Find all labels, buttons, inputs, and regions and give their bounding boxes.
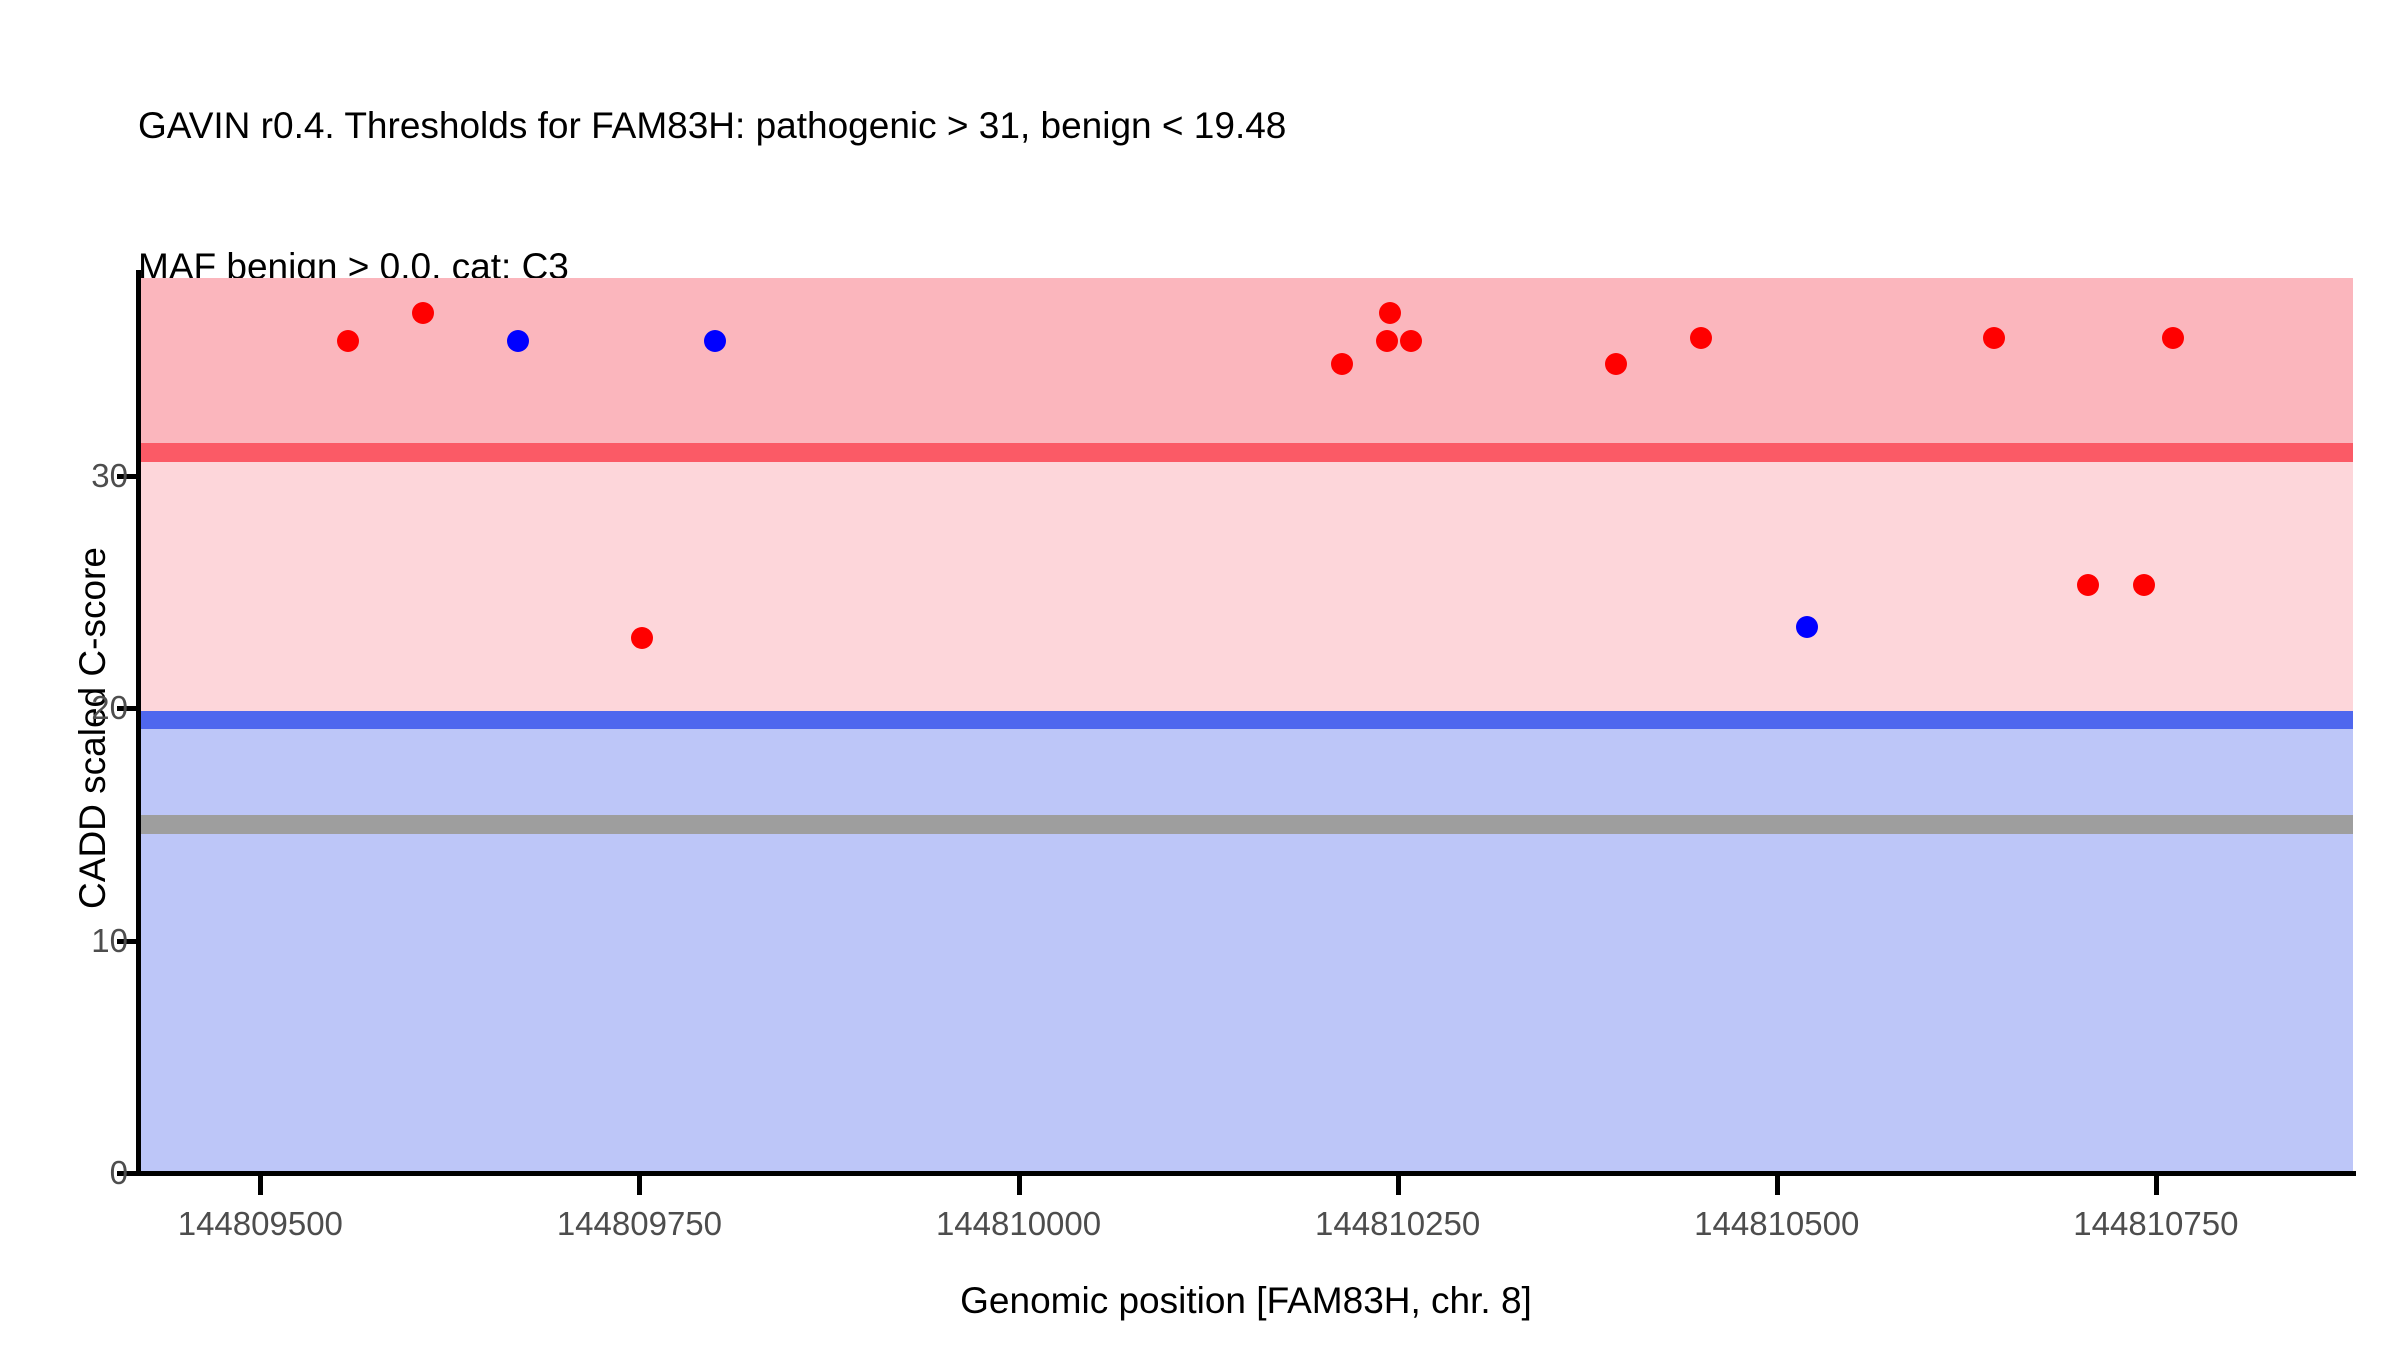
clinvar-pathogenic-point[interactable] <box>337 330 359 352</box>
clinvar-pathogenic-point[interactable] <box>1379 302 1401 324</box>
gnomad-variant-point[interactable] <box>704 330 726 352</box>
gnomad-variant-point[interactable] <box>1796 616 1818 638</box>
y-tick-label: 30 <box>0 457 128 495</box>
clinvar-pathogenic-point[interactable] <box>1376 330 1398 352</box>
clinvar-pathogenic-point[interactable] <box>1331 353 1353 375</box>
x-axis-title: Genomic position [FAM83H, chr. 8] <box>136 1280 2356 1322</box>
pathogenic-threshold-line <box>139 443 2353 462</box>
clinvar-pathogenic-point[interactable] <box>1983 327 2005 349</box>
x-tick-mark <box>637 1176 642 1195</box>
clinvar-pathogenic-point[interactable] <box>1400 330 1422 352</box>
x-tick-mark <box>1017 1176 1022 1195</box>
y-tick-label: 10 <box>0 922 128 960</box>
x-tick-mark <box>2154 1176 2159 1195</box>
x-tick-label: 144810250 <box>1198 1205 1598 1243</box>
pathogenic-region <box>139 278 2353 452</box>
benign-threshold-line <box>139 711 2353 729</box>
x-axis-line <box>136 1171 2356 1176</box>
clinvar-pathogenic-point[interactable] <box>2077 574 2099 596</box>
clinvar-pathogenic-point[interactable] <box>2133 574 2155 596</box>
x-tick-label: 144809750 <box>439 1205 839 1243</box>
chart-figure: GAVIN r0.4. Thresholds for FAM83H: patho… <box>0 0 2400 1350</box>
clinvar-pathogenic-point[interactable] <box>2162 327 2184 349</box>
benign-region <box>139 729 2353 1173</box>
clinvar-pathogenic-point[interactable] <box>412 302 434 324</box>
x-tick-mark <box>1775 1176 1780 1195</box>
clinvar-pathogenic-point[interactable] <box>1605 353 1627 375</box>
x-tick-mark <box>258 1176 263 1195</box>
genome-wide-fallback-line <box>139 815 2353 834</box>
x-tick-label: 144809500 <box>60 1205 460 1243</box>
x-tick-mark <box>1396 1176 1401 1195</box>
y-tick-label: 20 <box>0 689 128 727</box>
x-tick-label: 144810750 <box>1956 1205 2356 1243</box>
x-tick-label: 144810000 <box>819 1205 1219 1243</box>
vous-region <box>139 462 2353 721</box>
y-tick-label: 0 <box>0 1154 128 1192</box>
plot-panel <box>139 278 2353 1173</box>
chart-title-line-1: GAVIN r0.4. Thresholds for FAM83H: patho… <box>138 102 2338 149</box>
gnomad-variant-point[interactable] <box>507 330 529 352</box>
y-axis-line <box>136 270 141 1176</box>
x-tick-label: 144810500 <box>1577 1205 1977 1243</box>
